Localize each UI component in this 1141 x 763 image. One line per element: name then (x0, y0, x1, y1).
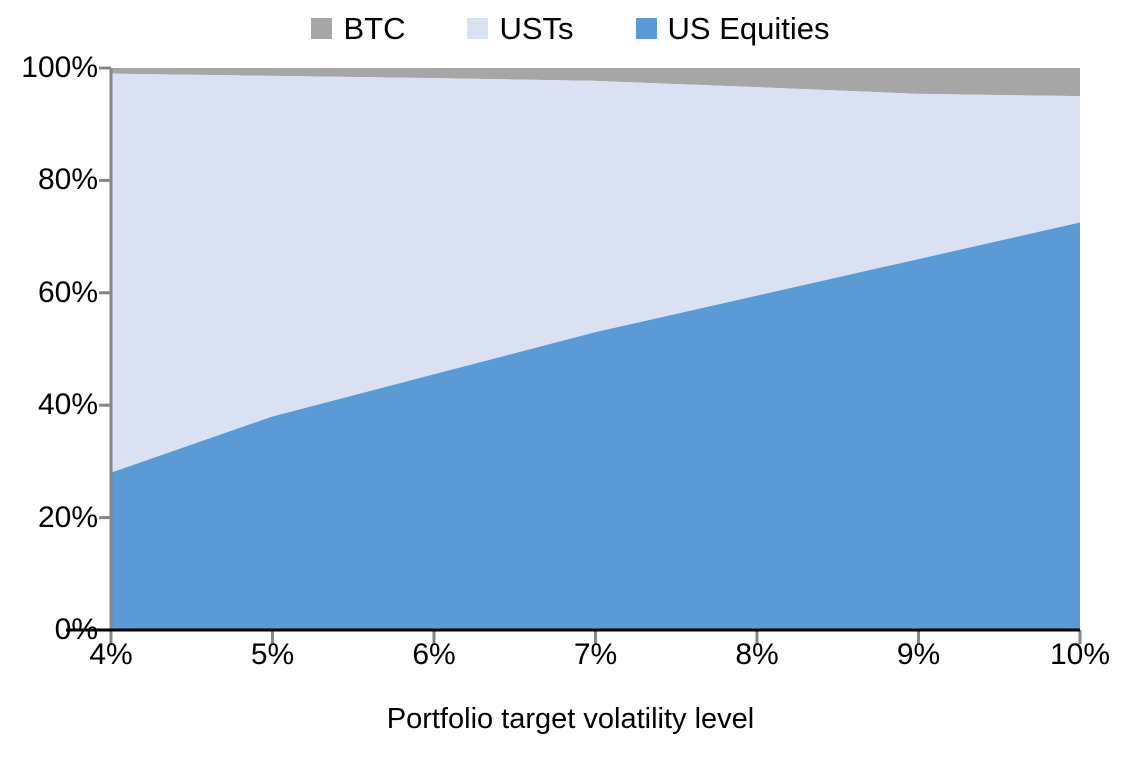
x-tick-label: 8% (735, 640, 778, 670)
x-axis-labels: 4%5%6%7%8%9%10% (0, 640, 1141, 692)
x-axis-title: Portfolio target volatility level (0, 705, 1141, 734)
x-tick-label: 9% (897, 640, 940, 670)
area-series-group (111, 68, 1080, 630)
y-tick-label: 80% (0, 165, 98, 195)
y-tick-label: 100% (0, 53, 98, 83)
x-tick-label: 10% (1050, 640, 1110, 670)
y-axis-ticks (99, 68, 111, 630)
x-tick-label: 7% (574, 640, 617, 670)
plot-area: 100%80%60%40%20%0% 4%5%6%7%8%9%10% (0, 0, 1141, 763)
x-tick-label: 5% (251, 640, 294, 670)
y-tick-label: 20% (0, 503, 98, 533)
x-tick-label: 4% (89, 640, 132, 670)
y-tick-label: 60% (0, 278, 98, 308)
stacked-area-chart: BTC USTs US Equities 100%80%60%40%20%0% … (0, 0, 1141, 763)
x-tick-label: 6% (412, 640, 455, 670)
y-tick-label: 40% (0, 390, 98, 420)
